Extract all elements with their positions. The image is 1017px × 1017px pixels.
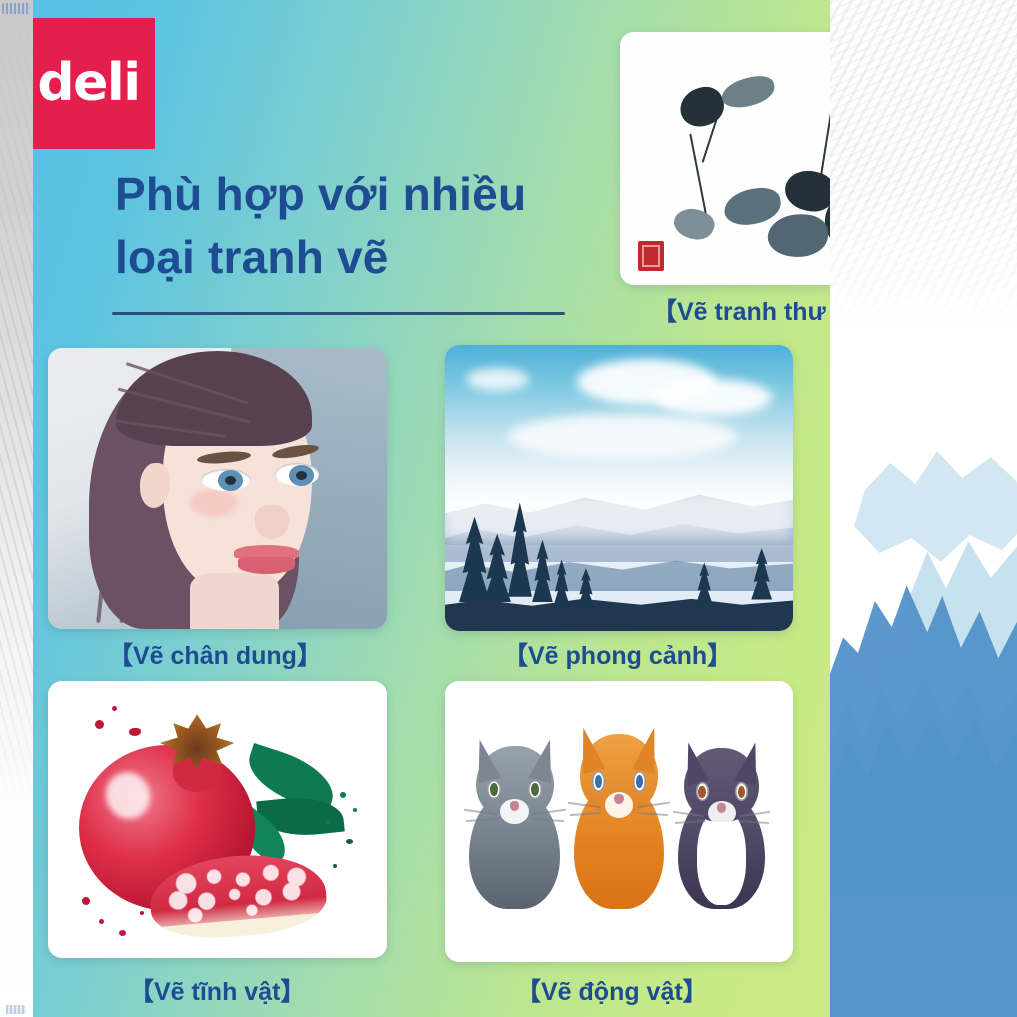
left-paper-margin xyxy=(0,0,33,1017)
watercolor-three-kittens xyxy=(445,681,793,962)
caption-calligraphy: 【Vẽ tranh thư pháp】 xyxy=(652,292,830,328)
card-landscape[interactable] xyxy=(445,345,793,631)
card-calligraphy[interactable] xyxy=(620,32,830,285)
kitten-grey xyxy=(469,746,559,909)
right-watercolor-margin xyxy=(830,0,1017,1017)
watermark-icon xyxy=(2,3,30,14)
watercolor-woman-portrait xyxy=(48,348,387,629)
caption-still-life: 【Vẽ tĩnh vật】 xyxy=(129,972,305,1008)
watermark-bottom-icon xyxy=(6,1005,26,1014)
deli-logo-text: deli xyxy=(37,57,139,109)
chinese-ink-flower-painting xyxy=(620,32,830,285)
kitten-tuxedo xyxy=(678,748,765,908)
card-portrait[interactable] xyxy=(48,348,387,629)
watercolor-misty-mountains xyxy=(445,345,793,631)
card-animals[interactable] xyxy=(445,681,793,962)
title-divider xyxy=(112,312,565,315)
caption-landscape: 【Vẽ phong cảnh】 xyxy=(503,636,732,672)
artist-seal-stamp xyxy=(638,241,664,271)
caption-animals: 【Vẽ động vật】 xyxy=(516,972,708,1008)
promo-banner: deli Phù hợp với nhiều loại tranh vẽ xyxy=(0,0,1017,1017)
watercolor-pomegranate xyxy=(48,681,387,958)
deli-logo: deli xyxy=(33,18,155,149)
kitten-orange-tabby xyxy=(574,734,664,908)
caption-portrait: 【Vẽ chân dung】 xyxy=(108,636,322,672)
main-gradient-panel: deli Phù hợp với nhiều loại tranh vẽ xyxy=(33,0,830,1017)
paper-grain-texture xyxy=(0,0,33,1017)
card-still-life[interactable] xyxy=(48,681,387,958)
